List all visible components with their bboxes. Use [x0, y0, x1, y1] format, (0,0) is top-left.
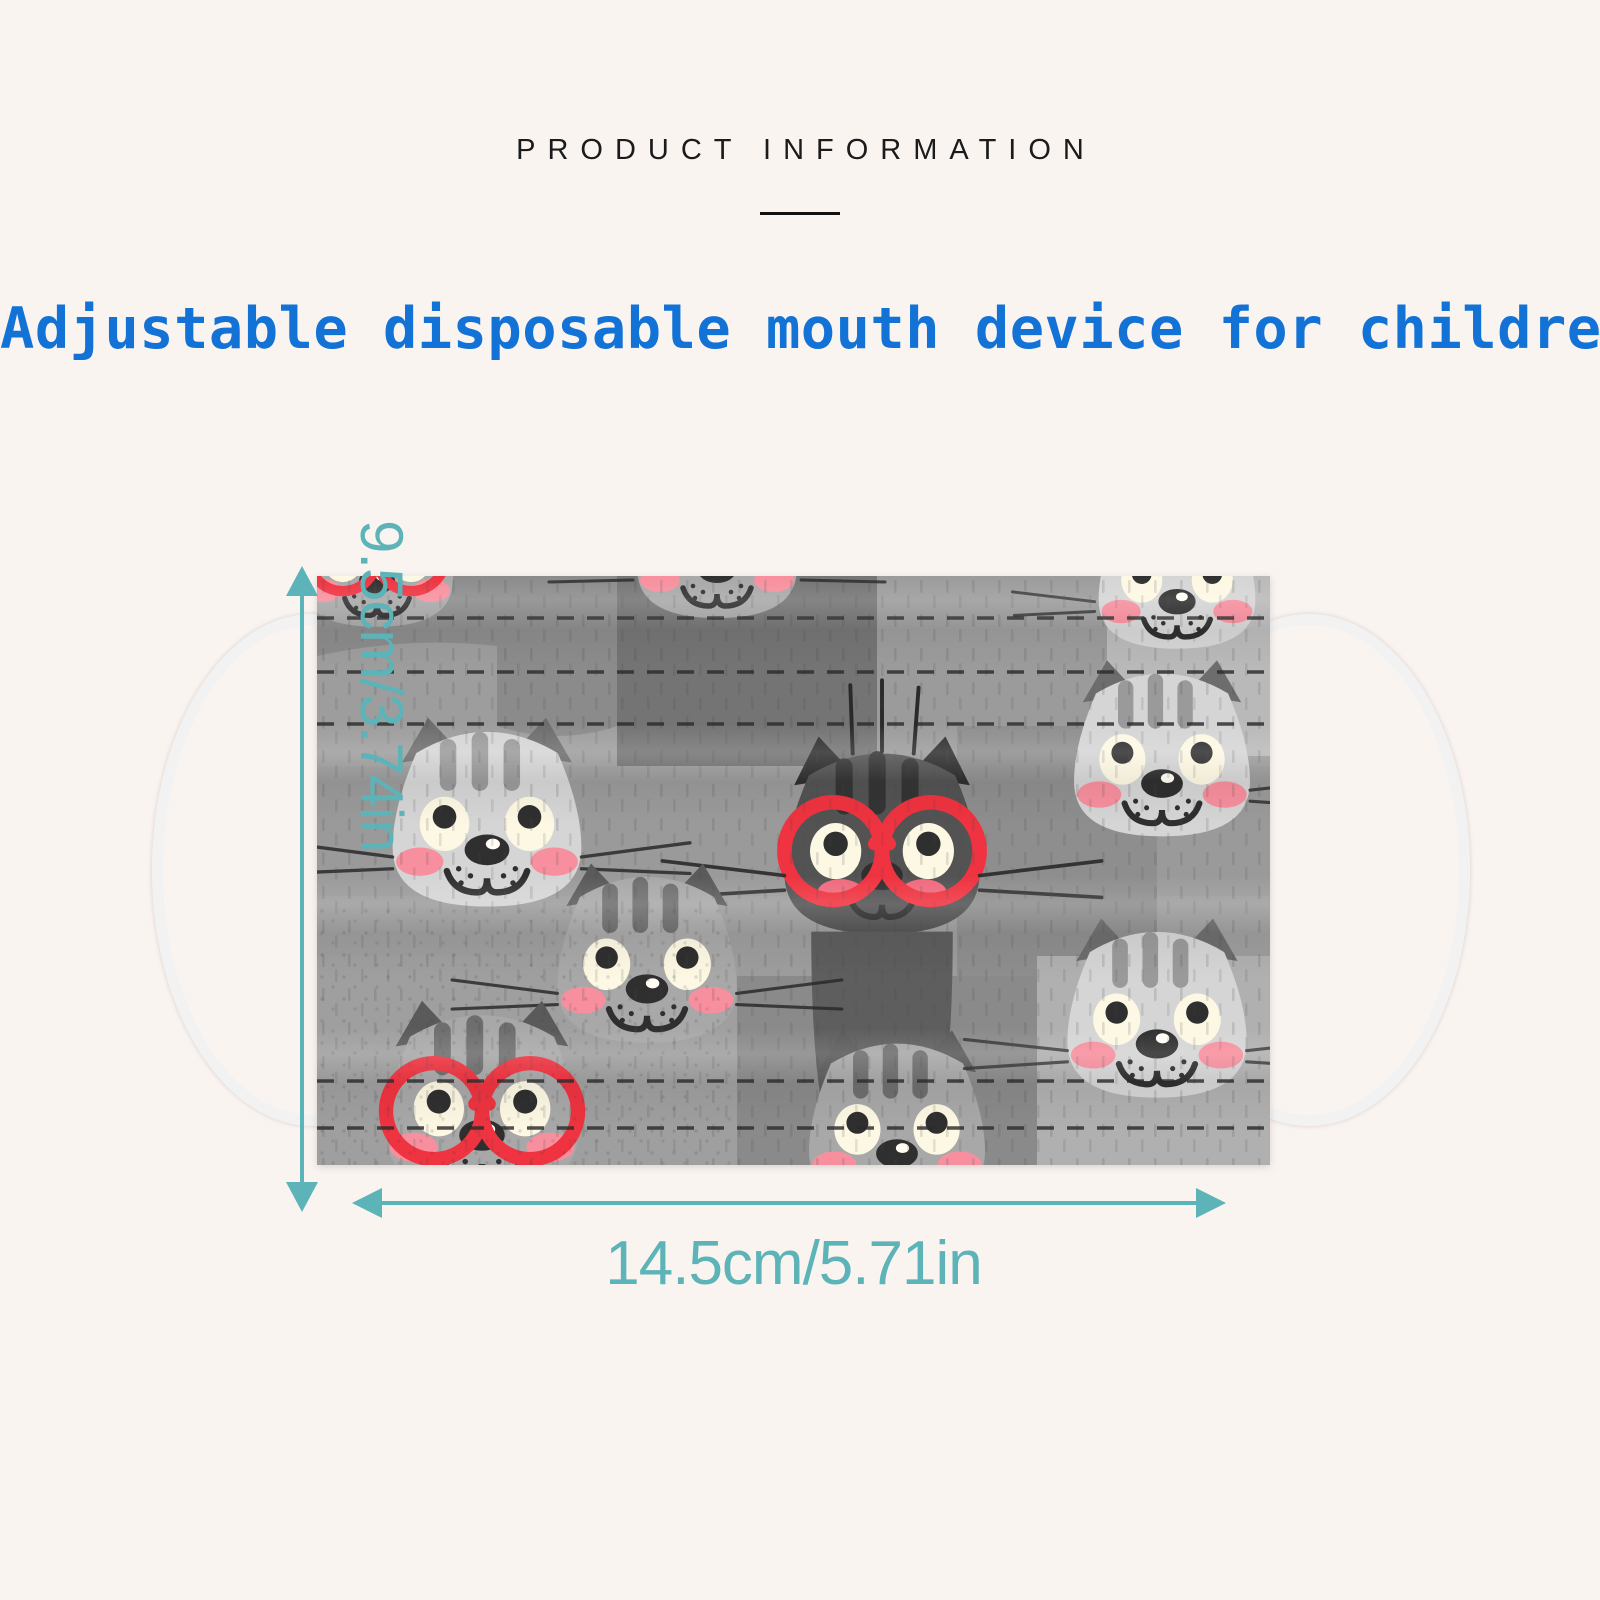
width-dimension-label: 14.5cm/5.71in: [317, 1228, 1270, 1299]
fabric-dot-texture: [317, 906, 737, 1165]
width-arrow-right: [1196, 1188, 1226, 1218]
height-dimension-line: [300, 588, 304, 1188]
width-arrow-left: [352, 1188, 382, 1218]
cat-pattern-illustration: [317, 576, 1270, 1165]
product-stage: 9.5cm/3.74in 14.5cm/5.71in: [0, 0, 1600, 1600]
width-dimension-line: [378, 1201, 1198, 1205]
height-arrow-top: [286, 566, 318, 596]
face-mask-image: [317, 576, 1270, 1165]
height-dimension-label: 9.5cm/3.74in: [347, 520, 416, 940]
height-arrow-bottom: [286, 1182, 318, 1212]
